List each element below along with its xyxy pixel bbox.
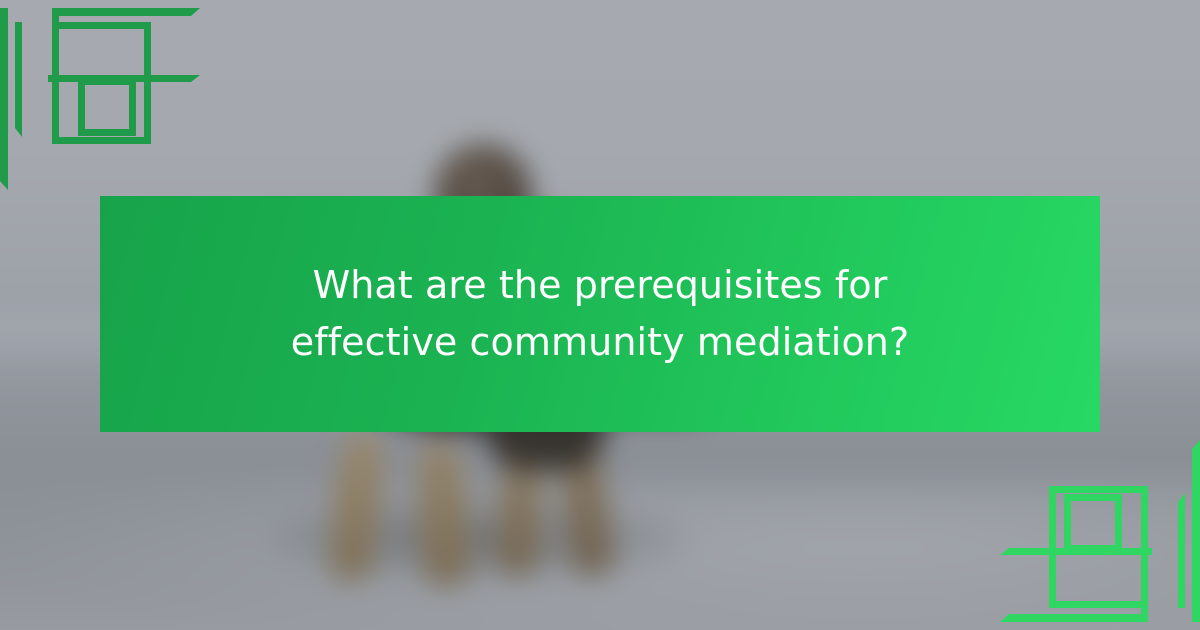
ornament-frame-left [1049,486,1056,608]
headline-banner: What are the prerequisites for effective… [100,196,1100,432]
ornament-square-right [1115,494,1122,552]
ornament-line-vertical-inner [1178,493,1185,608]
ornament-square-bottom [1064,545,1122,552]
ornament-square-left [1064,494,1071,552]
ornament-square-top [1064,494,1122,501]
share-card: What are the prerequisites for effective… [0,0,1200,630]
ornament-line-vertical-outer [1192,440,1200,622]
ornament-frame-top [1049,486,1148,493]
page-title: What are the prerequisites for effective… [180,257,1020,371]
ornament-line-horizontal-outer [1000,614,1148,622]
ornament-frame-lower [1049,601,1148,608]
